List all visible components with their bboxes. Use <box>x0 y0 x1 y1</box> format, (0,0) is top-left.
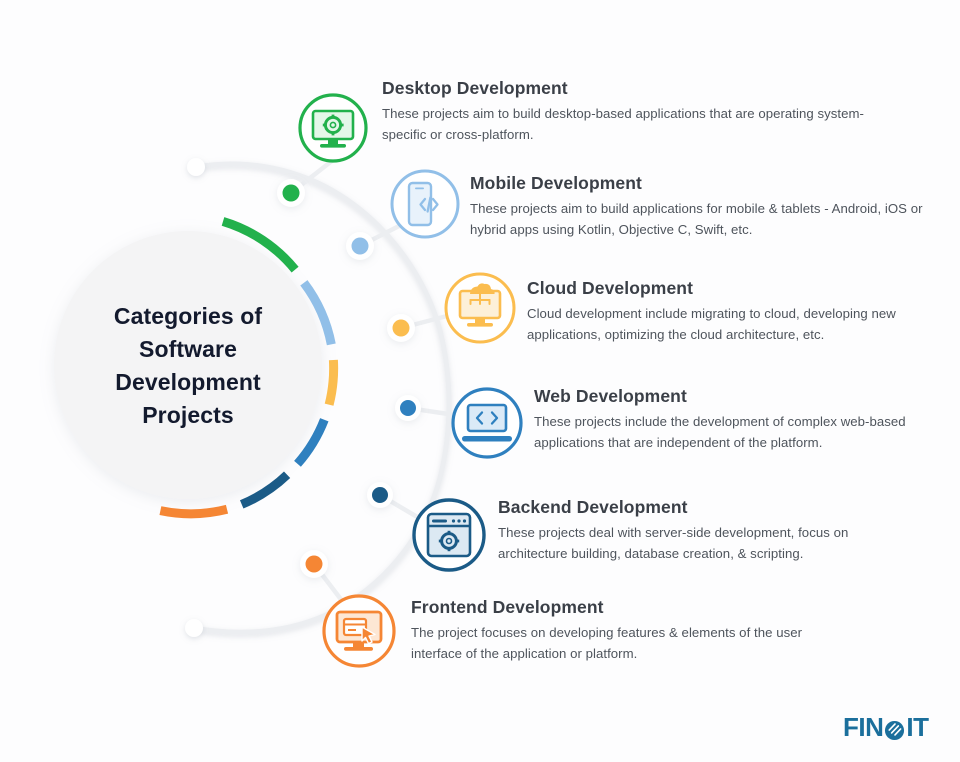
logo-text-right: IT <box>906 712 928 743</box>
hub-disc <box>54 231 322 499</box>
item-mobile: Mobile Development These projects aim to… <box>470 173 932 240</box>
item-cloud: Cloud Development Cloud development incl… <box>527 278 919 345</box>
path-endcap-top <box>187 158 205 176</box>
node-dot-web[interactable] <box>395 395 421 421</box>
icon-circle-cloud[interactable] <box>446 274 514 342</box>
item-web: Web Development These projects include t… <box>534 386 918 453</box>
item-title-cloud: Cloud Development <box>527 278 919 299</box>
arc-segment-cloud <box>329 360 334 405</box>
node-dot-desktop[interactable] <box>277 179 305 207</box>
item-desc-backend: These projects deal with server-side dev… <box>498 523 894 564</box>
item-desc-frontend: The project focuses on developing featur… <box>411 623 849 664</box>
logo-globe-icon <box>884 717 905 738</box>
item-title-desktop: Desktop Development <box>382 78 882 99</box>
finoit-logo[interactable]: FIN IT <box>843 712 929 743</box>
node-dot-frontend[interactable] <box>300 550 328 578</box>
item-title-web: Web Development <box>534 386 918 407</box>
item-desktop: Desktop Development These projects aim t… <box>382 78 882 145</box>
logo-text-left: FIN <box>843 712 883 743</box>
icon-circle-frontend[interactable] <box>324 596 394 666</box>
hub-circle-group <box>54 221 334 513</box>
node-dot-backend[interactable] <box>367 482 393 508</box>
icon-circle-web[interactable] <box>453 389 521 457</box>
item-frontend: Frontend Development The project focuses… <box>411 597 851 664</box>
item-title-mobile: Mobile Development <box>470 173 932 194</box>
item-backend: Backend Development These projects deal … <box>498 497 898 564</box>
path-endcap-bottom <box>185 619 203 637</box>
icon-circle-mobile[interactable] <box>392 171 458 237</box>
arc-segment-frontend <box>160 509 227 513</box>
item-title-backend: Backend Development <box>498 497 898 518</box>
icon-circle-desktop[interactable] <box>300 95 366 161</box>
browser-gear-icon <box>428 514 470 556</box>
item-desc-desktop: These projects aim to build desktop-base… <box>382 104 874 145</box>
node-dot-mobile[interactable] <box>346 232 374 260</box>
item-desc-mobile: These projects aim to build applications… <box>470 199 932 240</box>
laptop-code-icon <box>462 405 512 442</box>
node-dot-cloud[interactable] <box>387 314 415 342</box>
infographic-canvas: Categories of Software Development Proje… <box>0 0 960 762</box>
item-title-frontend: Frontend Development <box>411 597 851 618</box>
item-desc-web: These projects include the development o… <box>534 412 916 453</box>
item-desc-cloud: Cloud development include migrating to c… <box>527 304 917 345</box>
icon-circle-backend[interactable] <box>414 500 484 570</box>
